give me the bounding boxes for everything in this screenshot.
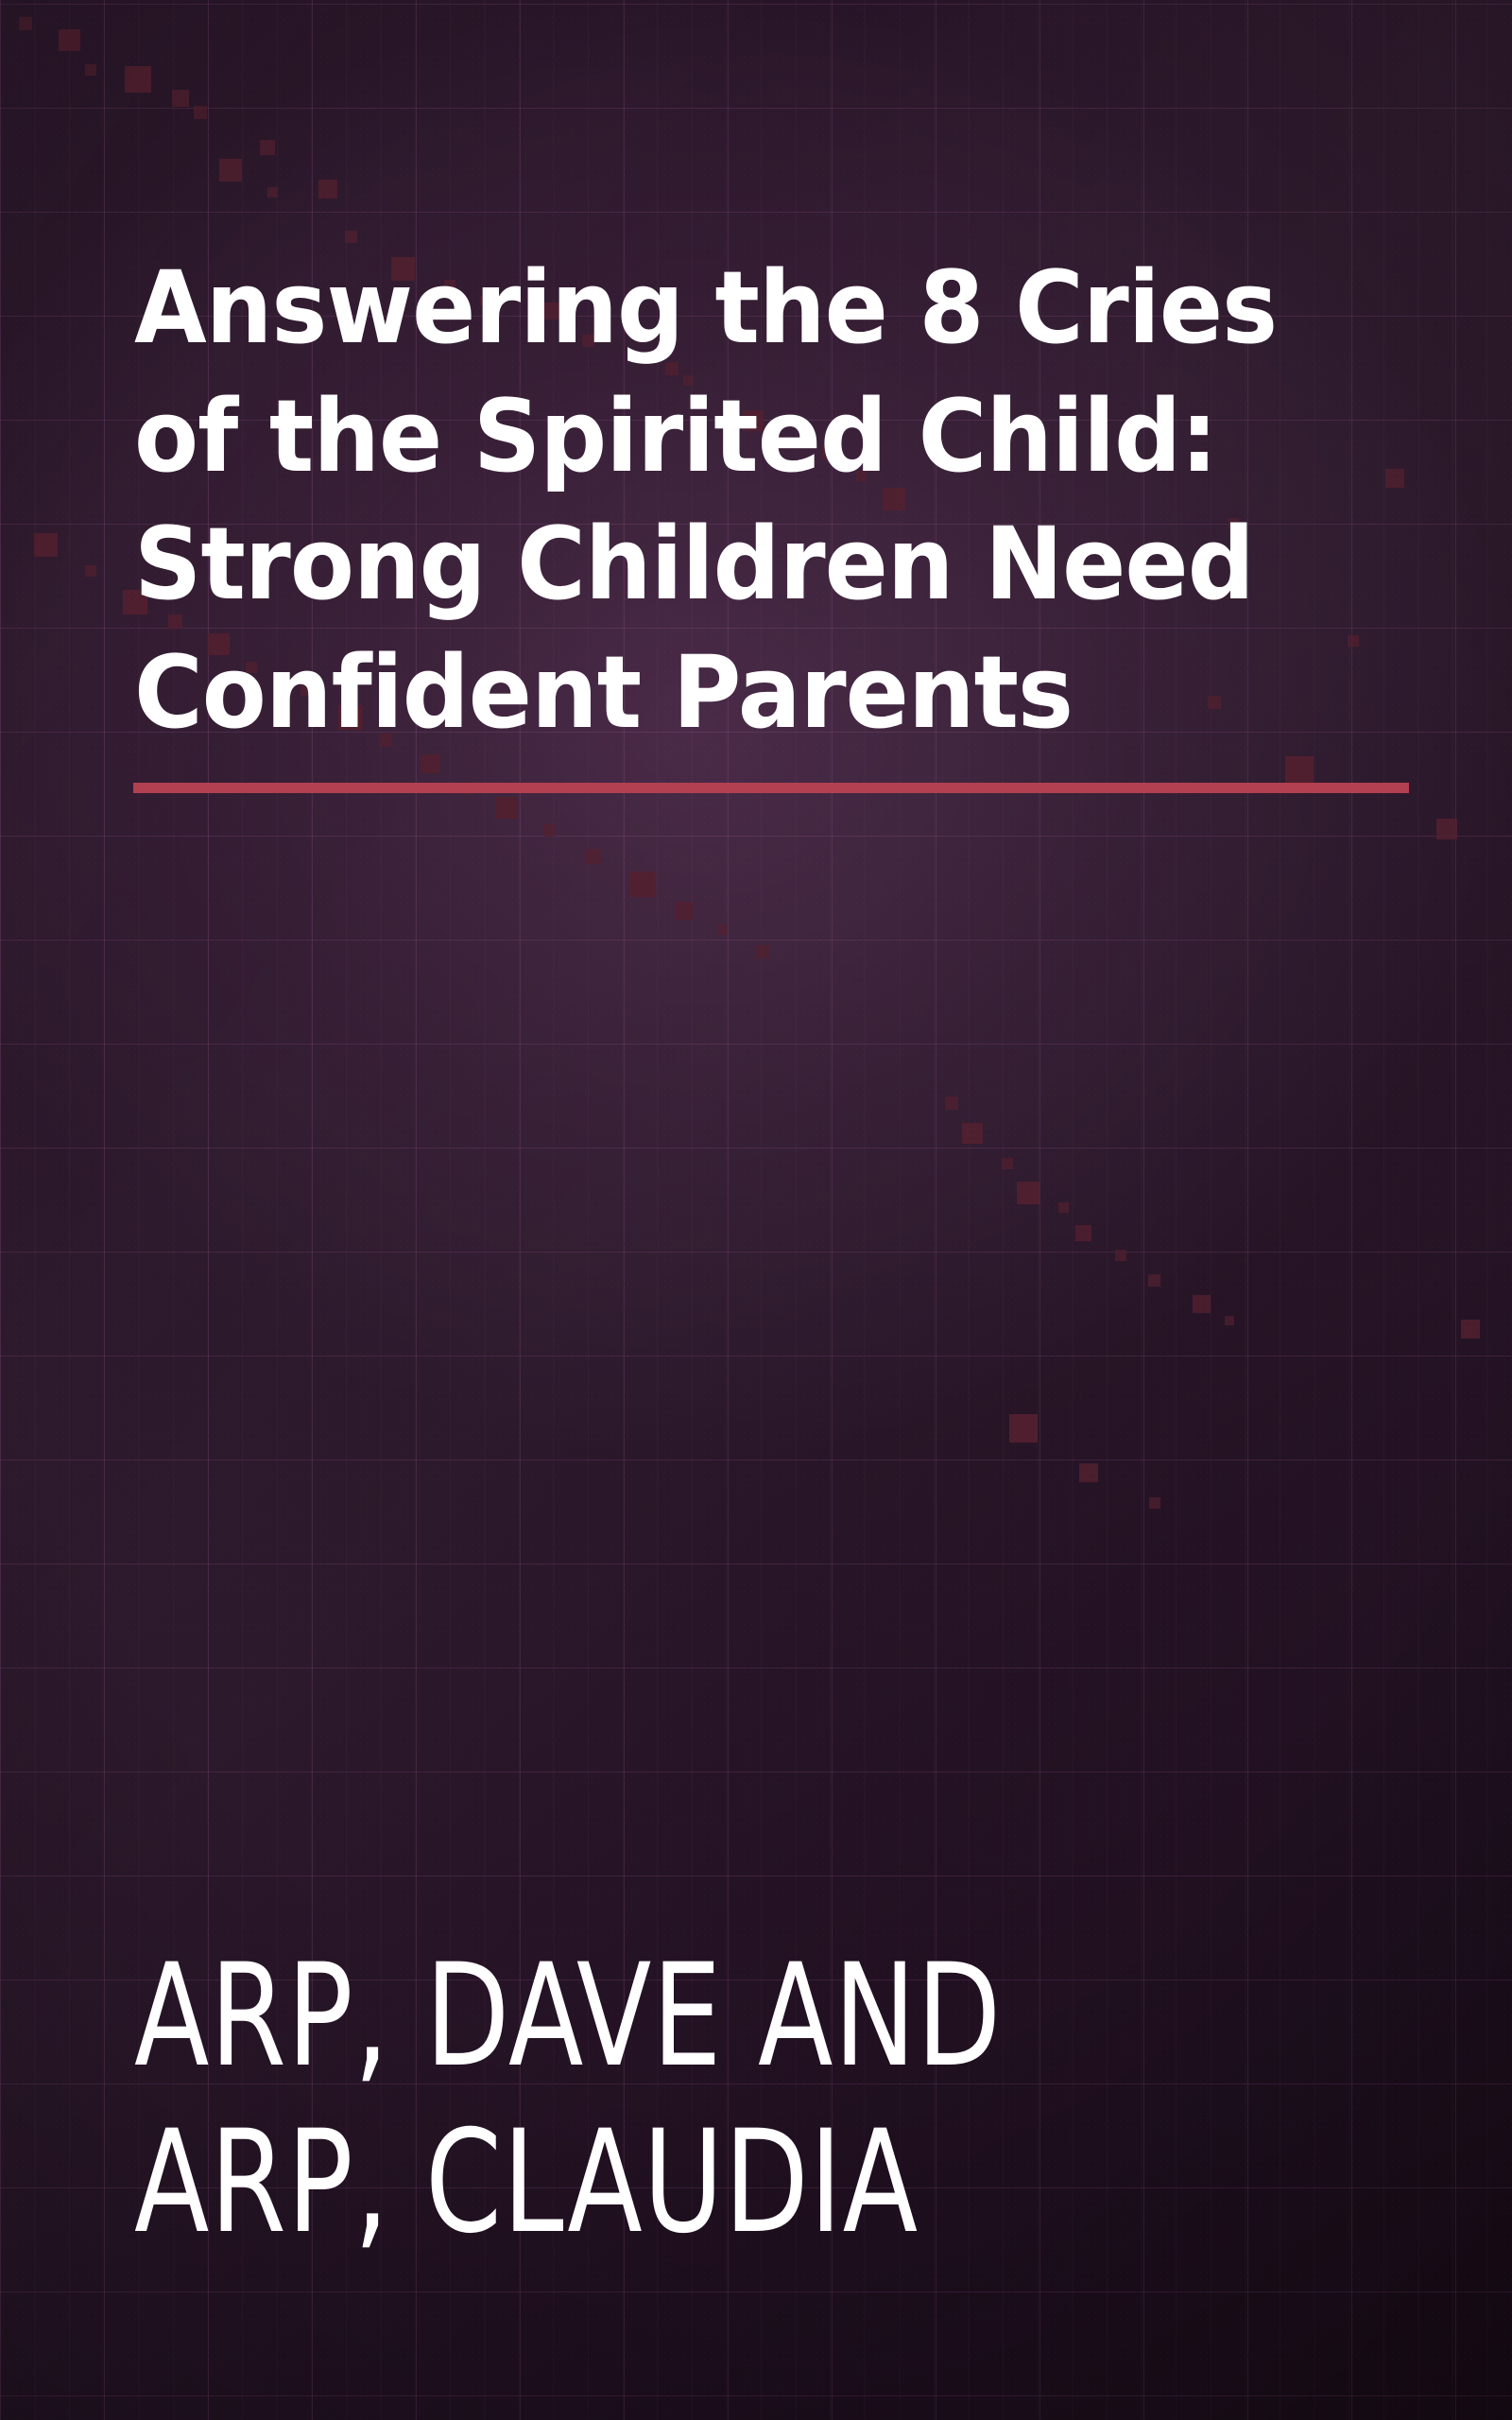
book-cover: Answering the 8 Criesof the Spirited Chi… — [0, 0, 1512, 2420]
accent-rule-divider — [133, 783, 1409, 793]
title-line-3: Strong Children Need — [134, 506, 1254, 622]
book-title: Answering the 8 Criesof the Spirited Chi… — [134, 244, 1345, 757]
title-block: Answering the 8 Criesof the Spirited Chi… — [134, 244, 1429, 757]
title-line-4: Confident Parents — [134, 634, 1073, 751]
title-line-2: of the Spirited Child: — [134, 378, 1217, 494]
author-line-2: ARP, CLAUDIA — [134, 2100, 919, 2265]
author-block: ARP, DAVE ANDARP, CLAUDIA — [134, 1934, 1457, 2266]
author-line-1: ARP, DAVE AND — [134, 1934, 1002, 2099]
book-author: ARP, DAVE ANDARP, CLAUDIA — [134, 1934, 1272, 2266]
title-line-1: Answering the 8 Cries — [134, 250, 1277, 366]
